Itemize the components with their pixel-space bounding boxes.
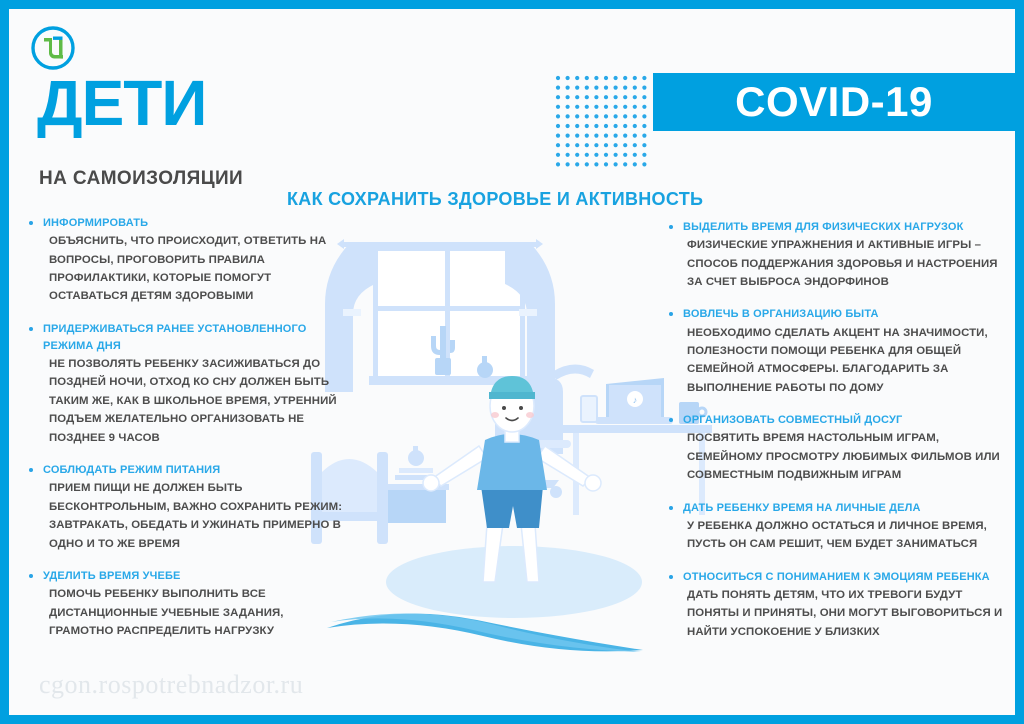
tip-body: НЕОБХОДИМО СДЕЛАТЬ АКЦЕНТ НА ЗНАЧИМОСТИ,… xyxy=(687,324,1015,398)
floor-oval xyxy=(386,546,642,618)
bullet-icon xyxy=(29,327,33,331)
poster-canvas: ДЕТИ НА САМОИЗОЛЯЦИИ КАК СОХРАНИТЬ ЗДОРО… xyxy=(9,9,1015,715)
tip-item: ОРГАНИЗОВАТЬ СОВМЕСТНЫЙ ДОСУГПОСВЯТИТЬ В… xyxy=(667,412,1015,484)
tip-title: ОТНОСИТЬСЯ С ПОНИМАНИЕМ К ЭМОЦИЯМ РЕБЕНК… xyxy=(683,569,1015,586)
window-illustration xyxy=(325,239,555,392)
tip-body: ФИЗИЧЕСКИЕ УПРАЖНЕНИЯ И АКТИВНЫЕ ИГРЫ – … xyxy=(687,236,1015,291)
tip-body: ПОСВЯТИТЬ ВРЕМЯ НАСТОЛЬНЫМ ИГРАМ, СЕМЕЙН… xyxy=(687,429,1015,484)
dot-grid-decoration xyxy=(555,75,647,172)
bullet-icon xyxy=(669,312,673,316)
tip-item: ДАТЬ РЕБЕНКУ ВРЕМЯ НА ЛИЧНЫЕ ДЕЛАУ РЕБЕН… xyxy=(667,500,1015,554)
cgon-logo xyxy=(30,25,76,71)
tip-body: НЕ ПОЗВОЛЯТЬ РЕБЕНКУ ЗАСИЖИВАТЬСЯ ДО ПОЗ… xyxy=(49,355,347,447)
section-heading: КАК СОХРАНИТЬ ЗДОРОВЬЕ И АКТИВНОСТЬ xyxy=(287,189,703,210)
tip-item: ПРИДЕРЖИВАТЬСЯ РАНЕЕ УСТАНОВЛЕННОГО РЕЖИ… xyxy=(27,321,347,447)
tip-body: ДАТЬ ПОНЯТЬ ДЕТЯМ, ЧТО ИХ ТРЕВОГИ БУДУТ … xyxy=(687,586,1015,641)
tip-item: ОТНОСИТЬСЯ С ПОНИМАНИЕМ К ЭМОЦИЯМ РЕБЕНК… xyxy=(667,569,1015,641)
tip-title: ОРГАНИЗОВАТЬ СОВМЕСТНЫЙ ДОСУГ xyxy=(683,412,1015,429)
tip-item: УДЕЛИТЬ ВРЕМЯ УЧЕБЕПОМОЧЬ РЕБЕНКУ ВЫПОЛН… xyxy=(27,568,347,640)
bullet-icon xyxy=(29,468,33,472)
tip-item: ИНФОРМИРОВАТЬОБЪЯСНИТЬ, ЧТО ПРОИСХОДИТ, … xyxy=(27,215,347,306)
brush-stroke-decoration xyxy=(327,613,643,652)
bullet-icon xyxy=(669,506,673,510)
tip-title: ПРИДЕРЖИВАТЬСЯ РАНЕЕ УСТАНОВЛЕННОГО РЕЖИ… xyxy=(43,321,347,355)
tip-title: ВЫДЕЛИТЬ ВРЕМЯ ДЛЯ ФИЗИЧЕСКИХ НАГРУЗОК xyxy=(683,219,1015,236)
covid-badge: COVID-19 xyxy=(653,73,1015,131)
bullet-icon xyxy=(29,574,33,578)
tip-title: ВОВЛЕЧЬ В ОРГАНИЗАЦИЮ БЫТА xyxy=(683,306,1015,323)
bullet-icon xyxy=(29,221,33,225)
tips-column-right: ВЫДЕЛИТЬ ВРЕМЯ ДЛЯ ФИЗИЧЕСКИХ НАГРУЗОКФИ… xyxy=(667,219,1015,656)
svg-text:♪: ♪ xyxy=(633,395,638,405)
covid-badge-label: COVID-19 xyxy=(735,78,933,126)
tip-body: ПРИЕМ ПИЩИ НЕ ДОЛЖЕН БЫТЬ БЕСКОНТРОЛЬНЫМ… xyxy=(49,479,347,553)
tip-item: ВЫДЕЛИТЬ ВРЕМЯ ДЛЯ ФИЗИЧЕСКИХ НАГРУЗОКФИ… xyxy=(667,219,1015,291)
bullet-icon xyxy=(669,225,673,229)
poster-frame: ДЕТИ НА САМОИЗОЛЯЦИИ КАК СОХРАНИТЬ ЗДОРО… xyxy=(0,0,1024,724)
tip-body: ПОМОЧЬ РЕБЕНКУ ВЫПОЛНИТЬ ВСЕ ДИСТАНЦИОНН… xyxy=(49,585,347,640)
tip-title: ДАТЬ РЕБЕНКУ ВРЕМЯ НА ЛИЧНЫЕ ДЕЛА xyxy=(683,500,1015,517)
tip-title: СОБЛЮДАТЬ РЕЖИМ ПИТАНИЯ xyxy=(43,462,347,479)
bullet-icon xyxy=(669,575,673,579)
tip-item: ВОВЛЕЧЬ В ОРГАНИЗАЦИЮ БЫТАНЕОБХОДИМО СДЕ… xyxy=(667,306,1015,397)
tip-body: У РЕБЕНКА ДОЛЖНО ОСТАТЬСЯ И ЛИЧНОЕ ВРЕМЯ… xyxy=(687,517,1015,554)
illustration-child-at-home: ♪ xyxy=(309,224,729,674)
page-subtitle: НА САМОИЗОЛЯЦИИ xyxy=(39,168,243,190)
tip-item: СОБЛЮДАТЬ РЕЖИМ ПИТАНИЯПРИЕМ ПИЩИ НЕ ДОЛ… xyxy=(27,462,347,553)
page-title: ДЕТИ xyxy=(37,71,206,135)
source-watermark: cgon.rospotrebnadzor.ru xyxy=(39,670,303,700)
tip-body: ОБЪЯСНИТЬ, ЧТО ПРОИСХОДИТ, ОТВЕТИТЬ НА В… xyxy=(49,232,347,306)
bullet-icon xyxy=(669,418,673,422)
tips-column-left: ИНФОРМИРОВАТЬОБЪЯСНИТЬ, ЧТО ПРОИСХОДИТ, … xyxy=(27,215,347,656)
tip-title: УДЕЛИТЬ ВРЕМЯ УЧЕБЕ xyxy=(43,568,347,585)
tip-title: ИНФОРМИРОВАТЬ xyxy=(43,215,347,232)
